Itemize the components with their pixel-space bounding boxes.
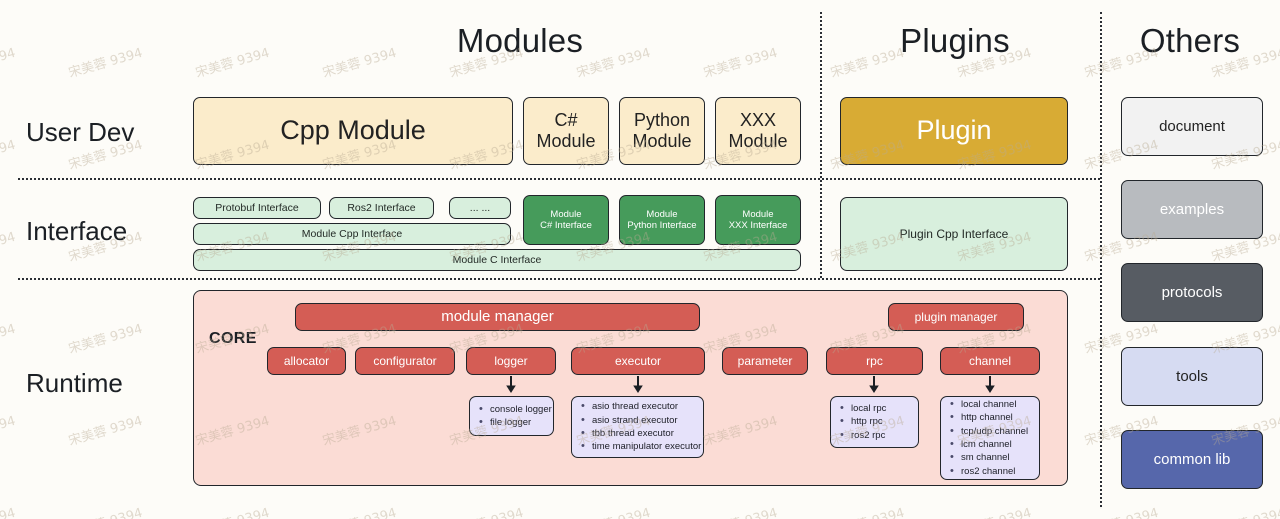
row-label-runtime: Runtime — [26, 368, 123, 399]
list-item: ros2 rpc — [851, 429, 886, 442]
divider-modules-plugins — [820, 12, 822, 278]
logger-items: console loggerfile logger — [476, 403, 552, 430]
plugin-box[interactable]: Plugin — [840, 97, 1068, 165]
core-component-configurator[interactable]: configurator — [355, 347, 455, 375]
module-manager-bar[interactable]: module manager — [295, 303, 700, 331]
channel-detail-list: local channelhttp channeltcp/udp channel… — [940, 396, 1040, 480]
others-box-examples[interactable]: examples — [1121, 180, 1263, 239]
list-item: sm channel — [961, 451, 1028, 464]
core-label: CORE — [209, 330, 257, 348]
list-item: http rpc — [851, 415, 886, 428]
interface-box-plugin-cpp[interactable]: Plugin Cpp Interface — [840, 197, 1068, 271]
module-box-cpp[interactable]: Cpp Module — [193, 97, 513, 165]
interface-box-module-c[interactable]: Module C Interface — [193, 249, 801, 271]
column-header-modules: Modules — [330, 22, 710, 60]
column-header-others: Others — [1110, 22, 1270, 60]
interface-box-more[interactable]: ... ... — [449, 197, 511, 219]
core-component-parameter[interactable]: parameter — [722, 347, 808, 375]
interface-box-module-xxx[interactable]: Module XXX Interface — [715, 195, 801, 245]
list-item: ros2 channel — [961, 465, 1028, 478]
others-box-common-lib[interactable]: common lib — [1121, 430, 1263, 489]
arrow-logger-down — [504, 376, 518, 394]
list-item: asio strand executor — [592, 414, 701, 427]
list-item: tbb thread executor — [592, 427, 701, 440]
list-item: asio thread executor — [592, 400, 701, 413]
column-header-plugins: Plugins — [830, 22, 1080, 60]
list-item: local rpc — [851, 402, 886, 415]
list-item: time manipulator executor — [592, 440, 701, 453]
core-component-logger[interactable]: logger — [466, 347, 556, 375]
interface-box-module-cpp[interactable]: Module Cpp Interface — [193, 223, 511, 245]
arrow-executor-down — [631, 376, 645, 394]
core-component-allocator[interactable]: allocator — [267, 347, 346, 375]
arrow-rpc-down — [867, 376, 881, 394]
interface-box-module-python[interactable]: Module Python Interface — [619, 195, 705, 245]
architecture-diagram: Modules Plugins Others User Dev Interfac… — [0, 0, 1280, 519]
divider-userdev-interface — [18, 178, 1100, 180]
module-box-python[interactable]: Python Module — [619, 97, 705, 165]
core-component-channel[interactable]: channel — [940, 347, 1040, 375]
divider-plugins-others — [1100, 12, 1102, 507]
rpc-items: local rpchttp rpcros2 rpc — [837, 402, 886, 442]
others-box-protocols[interactable]: protocols — [1121, 263, 1263, 322]
logger-detail-list: console loggerfile logger — [469, 396, 554, 436]
list-item: lcm channel — [961, 438, 1028, 451]
executor-items: asio thread executorasio strand executor… — [578, 400, 701, 454]
list-item: console logger — [490, 403, 552, 416]
channel-items: local channelhttp channeltcp/udp channel… — [947, 398, 1028, 479]
executor-detail-list: asio thread executorasio strand executor… — [571, 396, 704, 458]
list-item: local channel — [961, 398, 1028, 411]
divider-interface-runtime — [18, 278, 1100, 280]
list-item: file logger — [490, 416, 552, 429]
list-item: http channel — [961, 411, 1028, 424]
others-box-tools[interactable]: tools — [1121, 347, 1263, 406]
core-component-executor[interactable]: executor — [571, 347, 705, 375]
row-label-user-dev: User Dev — [26, 117, 134, 148]
core-component-rpc[interactable]: rpc — [826, 347, 923, 375]
plugin-manager-bar[interactable]: plugin manager — [888, 303, 1024, 331]
others-box-document[interactable]: document — [1121, 97, 1263, 156]
module-box-csharp[interactable]: C# Module — [523, 97, 609, 165]
interface-box-ros2[interactable]: Ros2 Interface — [329, 197, 434, 219]
interface-box-module-csharp[interactable]: Module C# Interface — [523, 195, 609, 245]
interface-box-protobuf[interactable]: Protobuf Interface — [193, 197, 321, 219]
arrow-channel-down — [983, 376, 997, 394]
module-box-xxx[interactable]: XXX Module — [715, 97, 801, 165]
row-label-interface: Interface — [26, 216, 127, 247]
rpc-detail-list: local rpchttp rpcros2 rpc — [830, 396, 919, 448]
list-item: tcp/udp channel — [961, 425, 1028, 438]
